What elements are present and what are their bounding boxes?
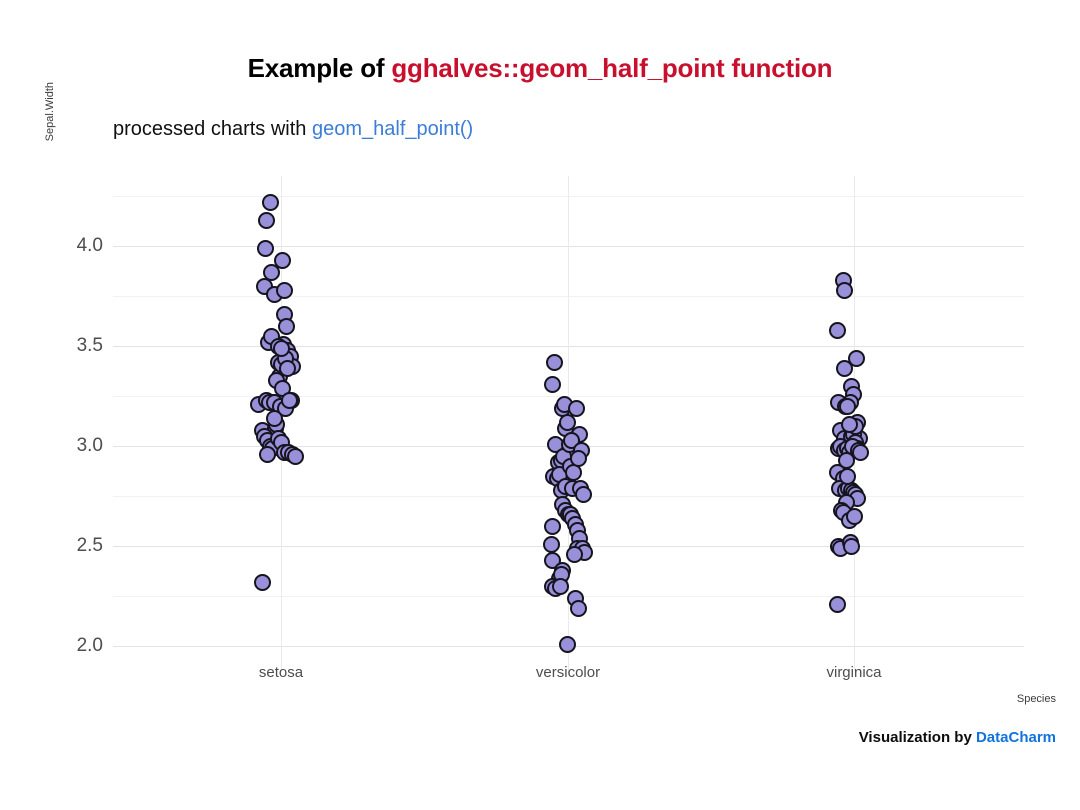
chart-title: Example of gghalves::geom_half_point fun… xyxy=(0,53,1080,84)
data-point xyxy=(841,416,858,433)
data-point xyxy=(852,444,869,461)
data-point xyxy=(839,468,856,485)
data-point xyxy=(570,600,587,617)
y-axis-tick-labels: 2.02.53.03.54.0 xyxy=(0,176,103,656)
data-point xyxy=(570,450,587,467)
data-point xyxy=(829,596,846,613)
chart-caption: Visualization by DataCharm xyxy=(859,729,1056,746)
data-point xyxy=(848,350,865,367)
data-point xyxy=(287,448,304,465)
chart-title-accent: gghalves::geom_half_point function xyxy=(391,53,832,83)
chart-subtitle-code: geom_half_point() xyxy=(312,118,473,140)
data-point xyxy=(254,574,271,591)
data-point xyxy=(566,546,583,563)
x-tick-label: virginica xyxy=(826,664,881,681)
data-point xyxy=(279,360,296,377)
data-point xyxy=(266,410,283,427)
data-point xyxy=(846,508,863,525)
data-point xyxy=(839,398,856,415)
data-point xyxy=(278,318,295,335)
data-point xyxy=(543,536,560,553)
data-point xyxy=(552,578,569,595)
chart-caption-brand: DataCharm xyxy=(976,729,1056,746)
data-point xyxy=(575,486,592,503)
data-point xyxy=(544,518,561,535)
data-point xyxy=(259,446,276,463)
y-tick-label: 2.5 xyxy=(3,535,103,557)
chart-caption-plain: Visualization by xyxy=(859,729,976,746)
y-tick-label: 4.0 xyxy=(3,235,103,257)
data-point xyxy=(544,376,561,393)
chart-subtitle-plain: processed charts with xyxy=(113,118,312,140)
plot-panel xyxy=(113,176,1024,656)
chart-title-plain: Example of xyxy=(248,53,392,83)
x-axis-tick-labels: setosaversicolorvirginica xyxy=(113,664,1024,690)
data-point xyxy=(559,636,576,653)
y-axis-title: Sepal.Width xyxy=(44,82,56,172)
y-tick-label: 2.0 xyxy=(3,635,103,657)
data-point xyxy=(258,212,275,229)
data-point xyxy=(262,194,279,211)
x-tick-label: setosa xyxy=(259,664,303,681)
data-point xyxy=(273,340,290,357)
data-point xyxy=(836,282,853,299)
data-point xyxy=(274,252,291,269)
x-axis-title: Species xyxy=(1017,693,1056,705)
y-tick-label: 3.0 xyxy=(3,435,103,457)
data-point xyxy=(843,538,860,555)
data-point xyxy=(257,240,274,257)
y-tick-label: 3.5 xyxy=(3,335,103,357)
data-point xyxy=(546,354,563,371)
chart-subtitle: processed charts with geom_half_point() xyxy=(113,118,473,141)
data-point xyxy=(276,282,293,299)
data-point xyxy=(281,392,298,409)
x-tick-label: versicolor xyxy=(536,664,600,681)
data-point xyxy=(829,322,846,339)
